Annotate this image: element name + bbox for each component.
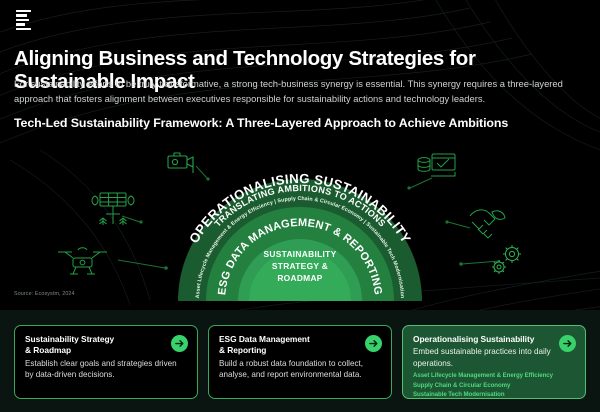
logo-bar [16,28,31,30]
card-sustainability-strategy[interactable]: Sustainability Strategy & Roadmap Establ… [14,325,198,399]
section-subtitle: Tech-Led Sustainability Framework: A Thr… [14,116,574,130]
logo-bar [16,19,29,21]
card-title-line2: & Reporting [219,345,266,355]
card-title: Operationalising Sustainability [413,334,575,345]
card-operationalising-sustainability[interactable]: Operationalising Sustainability Embed su… [402,325,586,399]
logo-bar [16,14,27,16]
sublist-item: Sustainable Tech Modernisation [413,390,575,399]
framework-diagram: OPERATIONALISING SUSTAINABILITY TRANSLAT… [0,136,600,301]
ecosystm-logo[interactable] [16,10,34,29]
intro-paragraph: For sustainability efforts to be truly t… [14,76,586,106]
card-esg-data-management[interactable]: ESG Data Management & Reporting Build a … [208,325,392,399]
card-title: ESG Data Management & Reporting [219,334,381,357]
concentric-rings: OPERATIONALISING SUSTAINABILITY TRANSLAT… [0,136,600,301]
core-line-3: ROADMAP [277,273,322,283]
core-line-1: SUSTAINABILITY [264,249,337,259]
core-line-2: STRATEGY & [272,261,328,271]
card-body: Establish clear goals and strategies dri… [25,358,187,381]
arrow-right-glyph [562,338,573,349]
card-body: Build a robust data foundation to collec… [219,358,381,381]
cards-strip: Sustainability Strategy & Roadmap Establ… [0,310,600,412]
sublist-item: Supply Chain & Circular Economy [413,381,575,390]
arrow-right-icon[interactable] [171,335,188,352]
card-title-line1: Sustainability Strategy [25,334,114,344]
logo-bar [16,23,25,25]
card-body: Embed sustainable practices into daily o… [413,346,575,369]
arrow-right-glyph [368,338,379,349]
arrow-right-glyph [174,338,185,349]
card-title-line2: & Roadmap [25,345,71,355]
sublist-item: Asset Lifecycle Management & Energy Effi… [413,371,575,380]
arrow-right-icon[interactable] [365,335,382,352]
cards-container: Sustainability Strategy & Roadmap Establ… [14,325,586,399]
card-title: Sustainability Strategy & Roadmap [25,334,187,357]
card-title-line1: Operationalising Sustainability [413,334,534,344]
logo-bar [16,10,31,12]
card-title-line1: ESG Data Management [219,334,310,344]
arrow-right-icon[interactable] [559,335,576,352]
card-sublist: Asset Lifecycle Management & Energy Effi… [413,371,575,399]
